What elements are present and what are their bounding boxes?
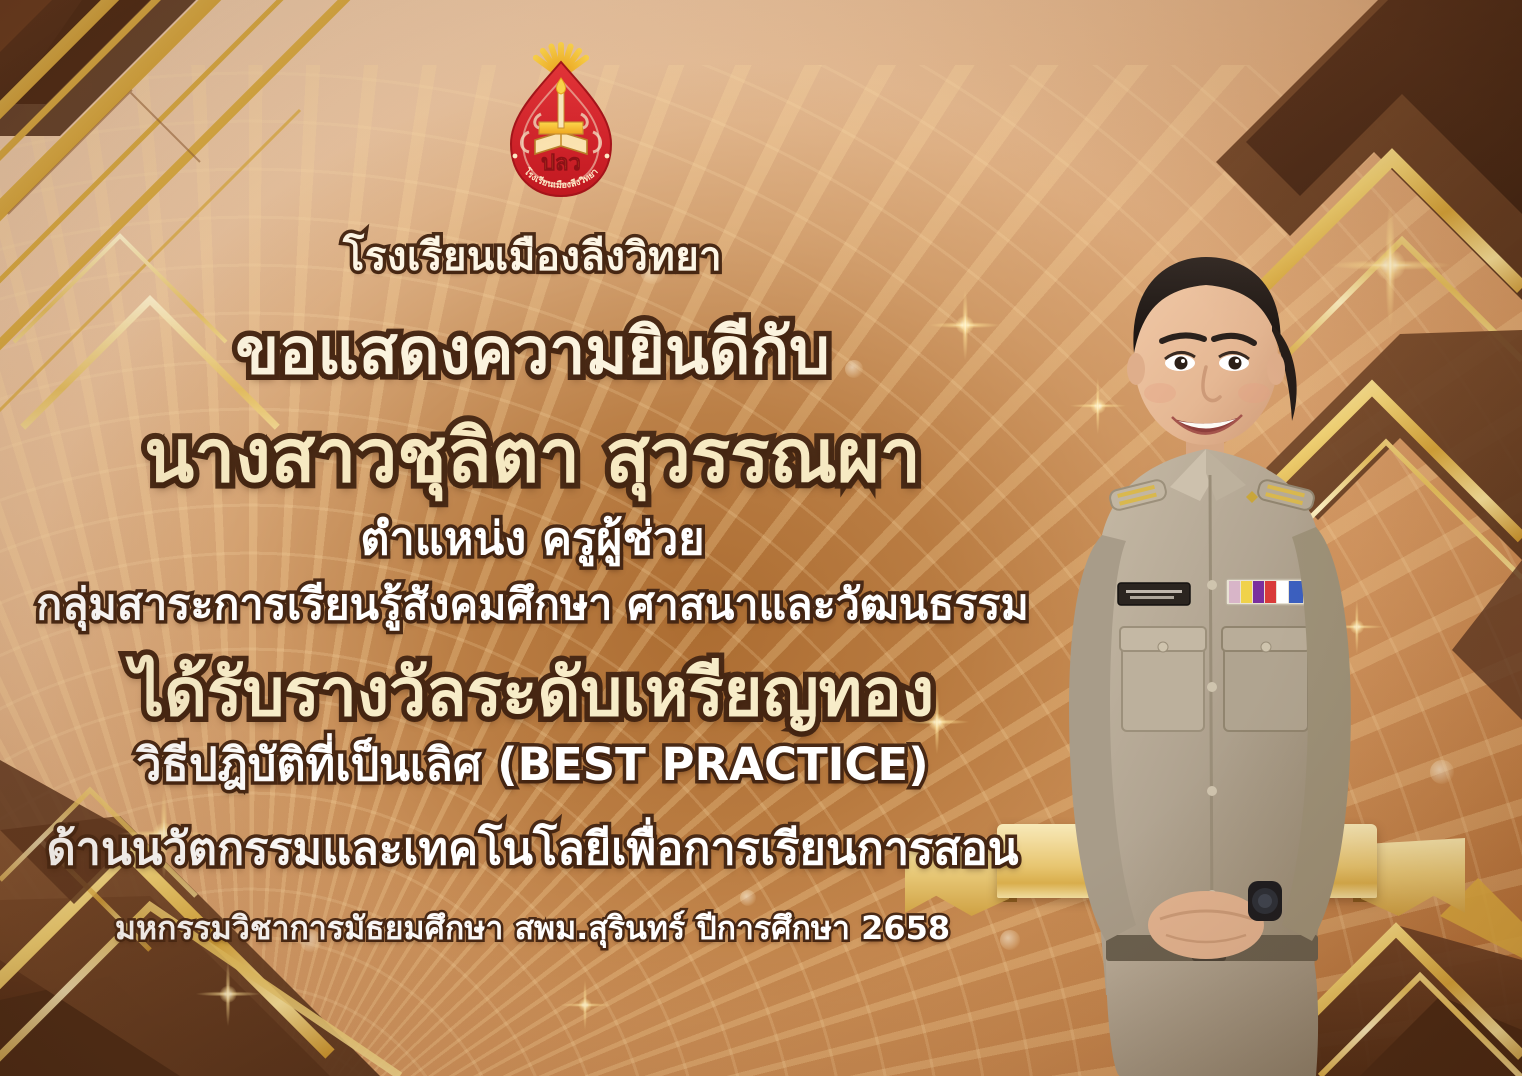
congratulations-poster: ปลว โรงเรียนเมืองลีงวิทยา โรงเรียนเมืองล… [0,0,1522,1076]
vignette-overlay [0,0,1522,1076]
